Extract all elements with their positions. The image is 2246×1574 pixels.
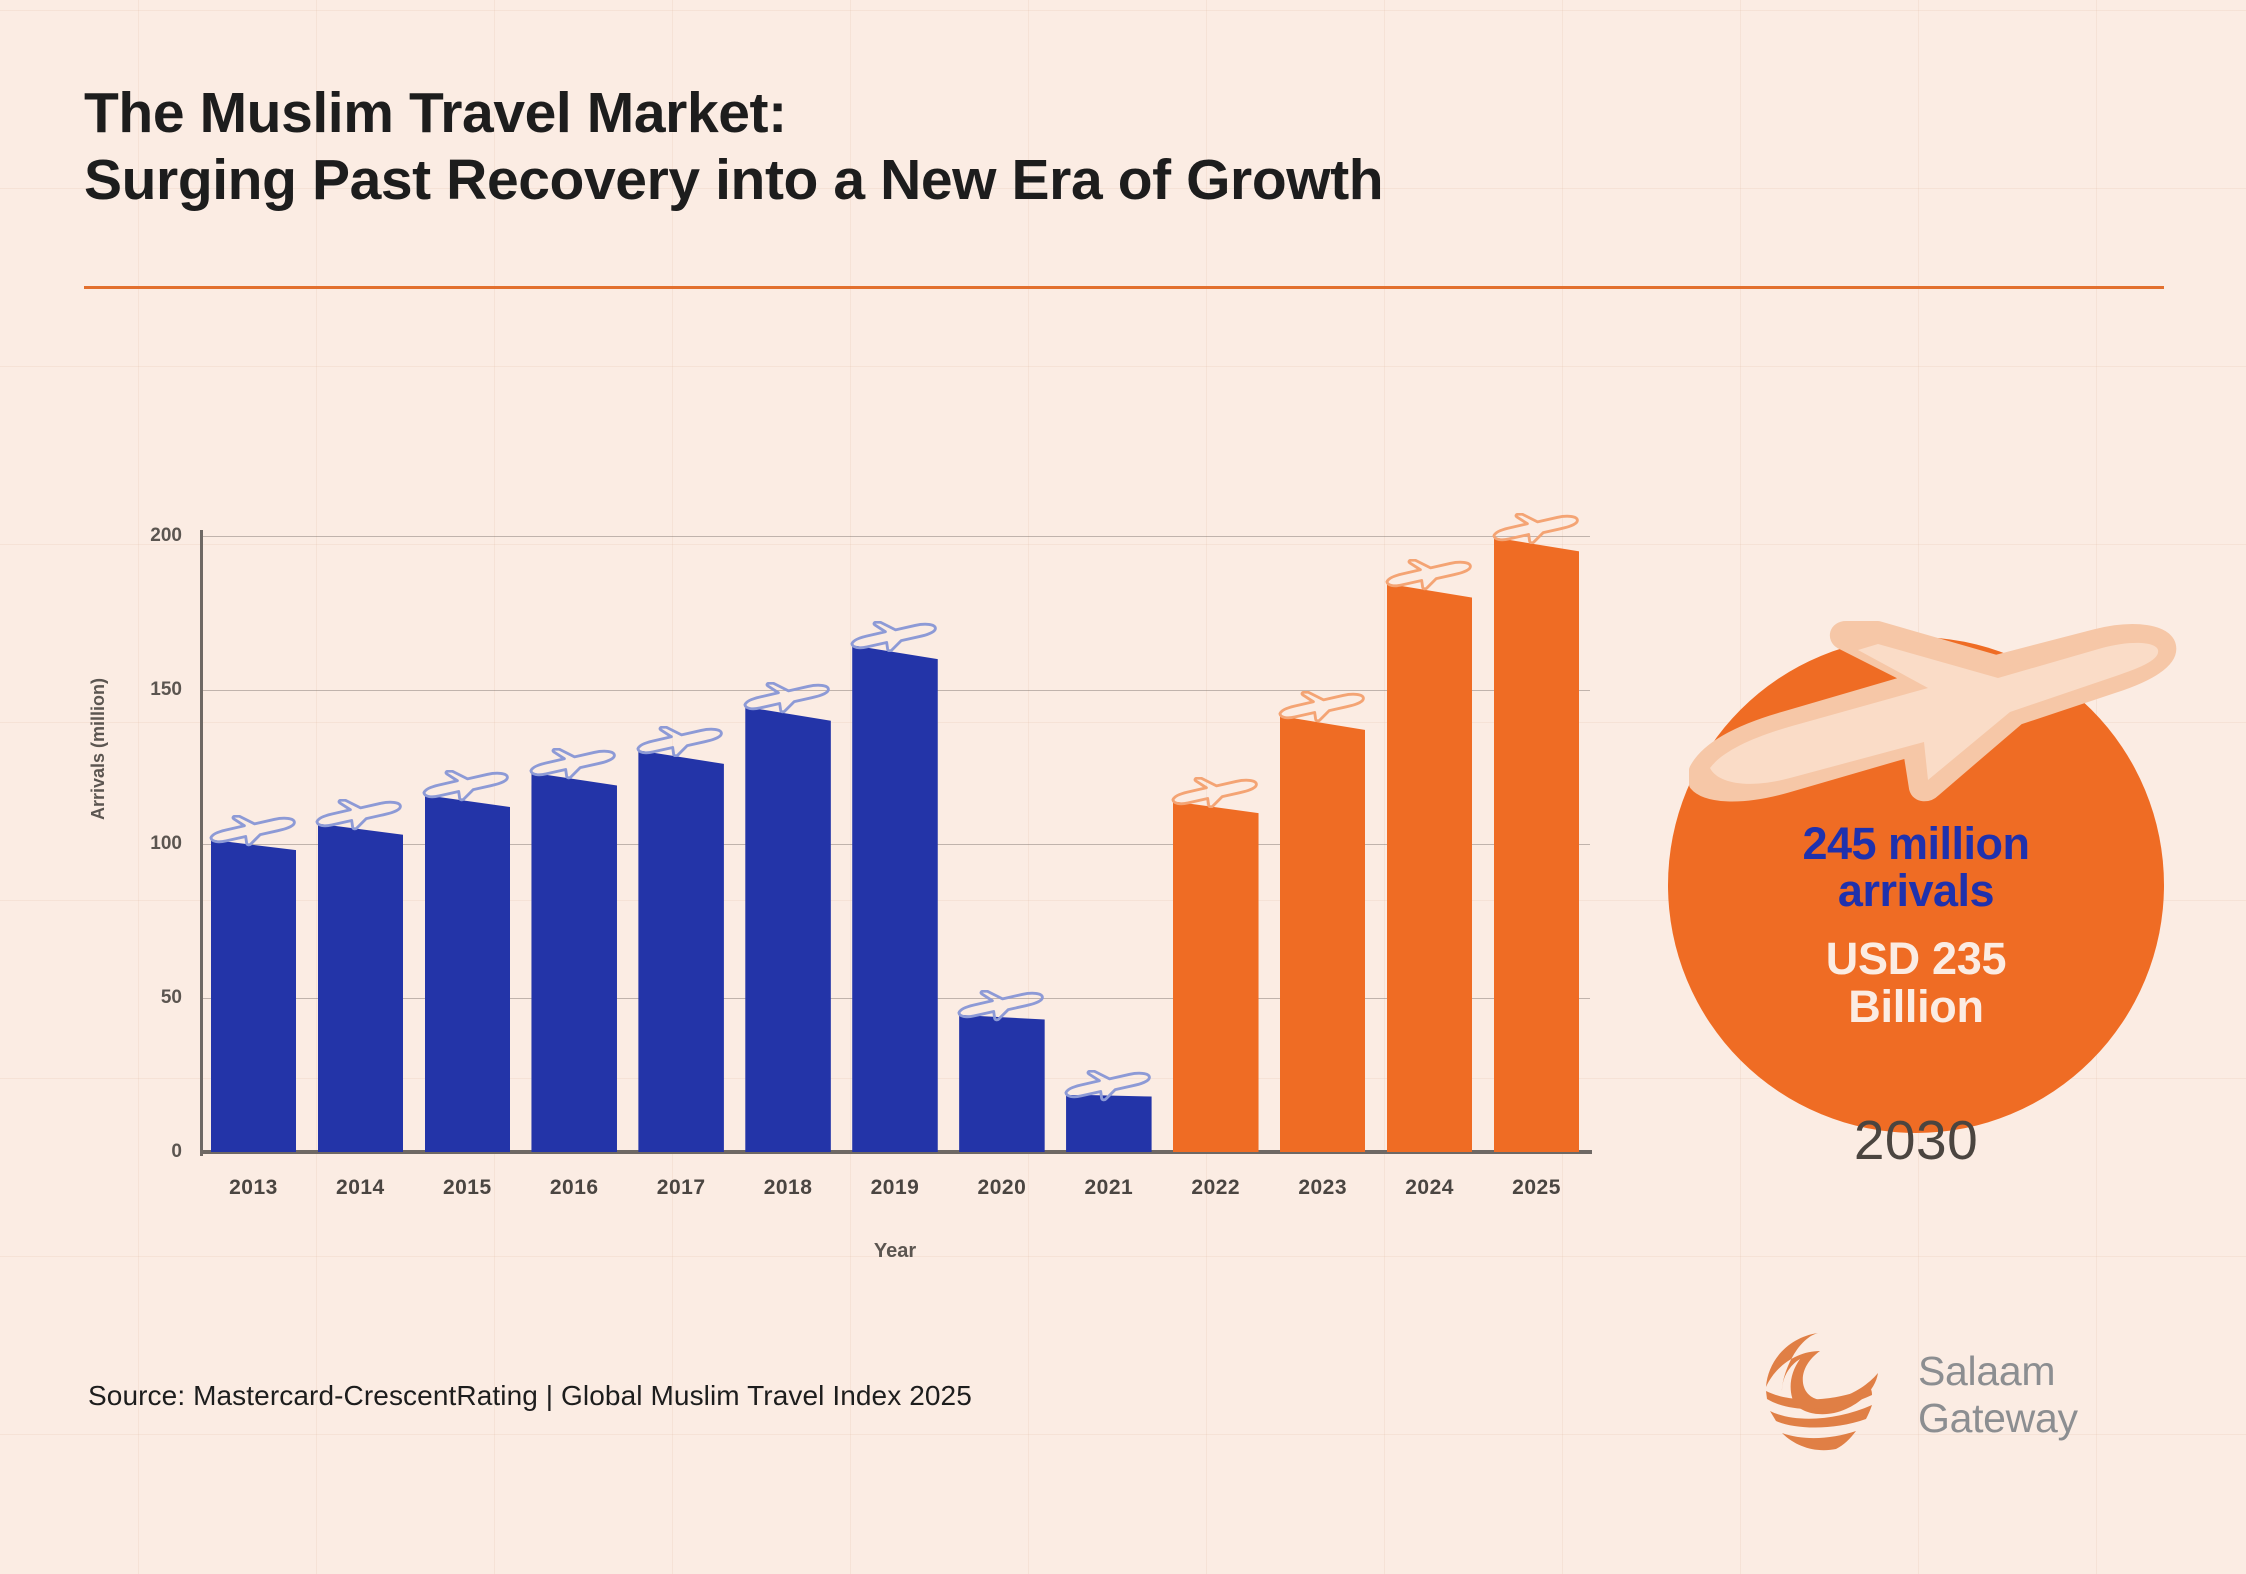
- x-axis-tick-label-2013: 2013: [200, 1176, 307, 1200]
- x-axis-tick-label-2016: 2016: [521, 1176, 628, 1200]
- x-axis-tick-label-2023: 2023: [1269, 1176, 1376, 1200]
- y-axis-tick-label: 200: [102, 525, 182, 547]
- x-axis-tick-label-2020: 2020: [948, 1176, 1055, 1200]
- bar-2022[interactable]: [1173, 801, 1259, 1152]
- bar-fill: [531, 773, 617, 1152]
- badge-usd-unit: Billion: [1668, 983, 2164, 1032]
- airplane-icon-2015: [419, 770, 515, 802]
- bar-fill: [425, 795, 511, 1152]
- source-note: Source: Mastercard-CrescentRating | Glob…: [88, 1380, 972, 1412]
- bar-fill: [1173, 801, 1259, 1152]
- bar-fill: [852, 645, 938, 1152]
- logo-word-salaam: Salaam: [1918, 1348, 2078, 1395]
- badge-arrivals-word: arrivals: [1668, 867, 2164, 914]
- x-axis-tick-label-2014: 2014: [307, 1176, 414, 1200]
- page-title: The Muslim Travel Market: Surging Past R…: [84, 80, 1984, 215]
- bar-2018[interactable]: [745, 707, 831, 1152]
- x-axis-tick-label-2024: 2024: [1376, 1176, 1483, 1200]
- badge-year-label: 2030: [1668, 1108, 2164, 1172]
- badge-usd-value: USD 235: [1668, 935, 2164, 984]
- bar-2015[interactable]: [425, 795, 511, 1152]
- airplane-icon-2018: [740, 682, 836, 714]
- x-axis-tick-label-2019: 2019: [842, 1176, 949, 1200]
- bar-2013[interactable]: [211, 840, 297, 1152]
- bar-2020[interactable]: [959, 1015, 1045, 1152]
- gridline: [200, 844, 1590, 845]
- badge-arrivals-number: 245 million: [1668, 820, 2164, 867]
- airplane-icon-2019: [847, 621, 943, 653]
- gridline: [200, 998, 1590, 999]
- bar-2017[interactable]: [638, 750, 724, 1152]
- x-axis-tick-label-2025: 2025: [1483, 1176, 1590, 1200]
- x-axis-tick-label-2015: 2015: [414, 1176, 521, 1200]
- airplane-icon-2022: [1168, 777, 1264, 809]
- y-axis-label: Arrivals (million): [88, 678, 109, 820]
- bar-2025[interactable]: [1494, 537, 1580, 1152]
- y-axis-tick-label: 100: [102, 833, 182, 855]
- plot-area: [200, 536, 1590, 1152]
- y-axis-line: [200, 530, 203, 1156]
- x-axis-label: Year: [200, 1240, 1590, 1263]
- x-axis-tick-label-2021: 2021: [1055, 1176, 1162, 1200]
- y-axis-tick-label: 150: [102, 679, 182, 701]
- x-axis-tick-label-2018: 2018: [735, 1176, 842, 1200]
- bar-2024[interactable]: [1387, 584, 1473, 1152]
- logo-word-gateway: Gateway: [1918, 1395, 2078, 1442]
- globe-swoosh-icon: [1760, 1329, 1896, 1461]
- x-axis-tick-label-2017: 2017: [628, 1176, 735, 1200]
- title-line-2: Surging Past Recovery into a New Era of …: [84, 147, 1984, 214]
- gridline: [200, 536, 1590, 537]
- airplane-icon-2017: [633, 726, 729, 758]
- bar-fill: [1387, 584, 1473, 1152]
- x-axis-tick-label-2022: 2022: [1162, 1176, 1269, 1200]
- forecast-badge-text: 245 million arrivals USD 235 Billion: [1668, 820, 2164, 1032]
- airplane-icon-2024: [1382, 559, 1478, 591]
- gridline: [200, 690, 1590, 691]
- bar-2019[interactable]: [852, 645, 938, 1152]
- bar-fill: [959, 1015, 1045, 1152]
- airplane-icon-2025: [1489, 513, 1585, 545]
- bar-2023[interactable]: [1280, 716, 1366, 1152]
- y-axis-tick-label: 0: [102, 1141, 182, 1163]
- x-axis-line: [200, 1150, 1592, 1154]
- bar-fill: [745, 707, 831, 1152]
- title-divider: [84, 286, 2164, 289]
- title-line-1: The Muslim Travel Market:: [84, 80, 1984, 147]
- bar-fill: [1280, 716, 1366, 1152]
- airplane-icon-2021: [1061, 1070, 1157, 1102]
- bar-2016[interactable]: [531, 773, 617, 1152]
- airplane-icon-2014: [312, 799, 408, 831]
- airplane-icon-2020: [954, 990, 1050, 1022]
- bar-fill: [318, 824, 404, 1152]
- airplane-icon-2023: [1275, 691, 1371, 723]
- airplane-icon-2016: [526, 748, 622, 780]
- bar-fill: [1494, 537, 1580, 1152]
- bar-fill: [211, 840, 297, 1152]
- bar-2021[interactable]: [1066, 1095, 1152, 1152]
- bar-fill: [1066, 1095, 1152, 1152]
- logo-wordmark: Salaam Gateway: [1918, 1348, 2078, 1441]
- bar-fill: [638, 750, 724, 1152]
- bar-2014[interactable]: [318, 824, 404, 1152]
- y-axis-tick-label: 50: [102, 987, 182, 1009]
- airplane-icon-2013: [206, 815, 302, 847]
- salaam-gateway-logo: Salaam Gateway: [1760, 1320, 2160, 1470]
